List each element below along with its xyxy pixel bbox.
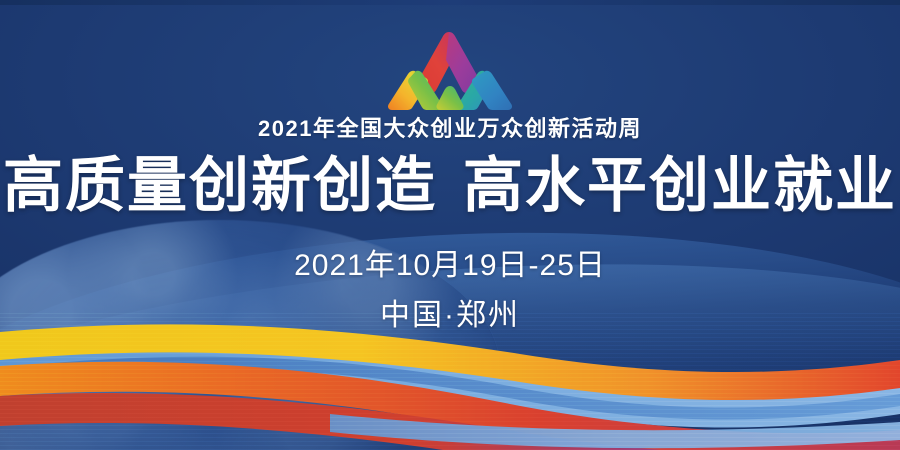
page-title: 高质量创新创造高水平创业就业 <box>0 154 900 217</box>
event-poster: 2021年全国大众创业万众创新活动周 高质量创新创造高水平创业就业 2021年1… <box>0 0 900 450</box>
shuangchuang-mountain-logo <box>386 26 514 114</box>
event-date: 2021年10月19日-25日 <box>0 251 900 281</box>
event-location: 中国·郑州 <box>0 301 900 331</box>
poster-text-block: 2021年全国大众创业万众创新活动周 高质量创新创造高水平创业就业 2021年1… <box>0 118 900 331</box>
headline-right: 高水平创业就业 <box>463 152 897 219</box>
headline-left: 高质量创新创造 <box>3 152 437 219</box>
poster-subtitle: 2021年全国大众创业万众创新活动周 <box>0 118 900 140</box>
top-edge-strip <box>0 0 900 5</box>
